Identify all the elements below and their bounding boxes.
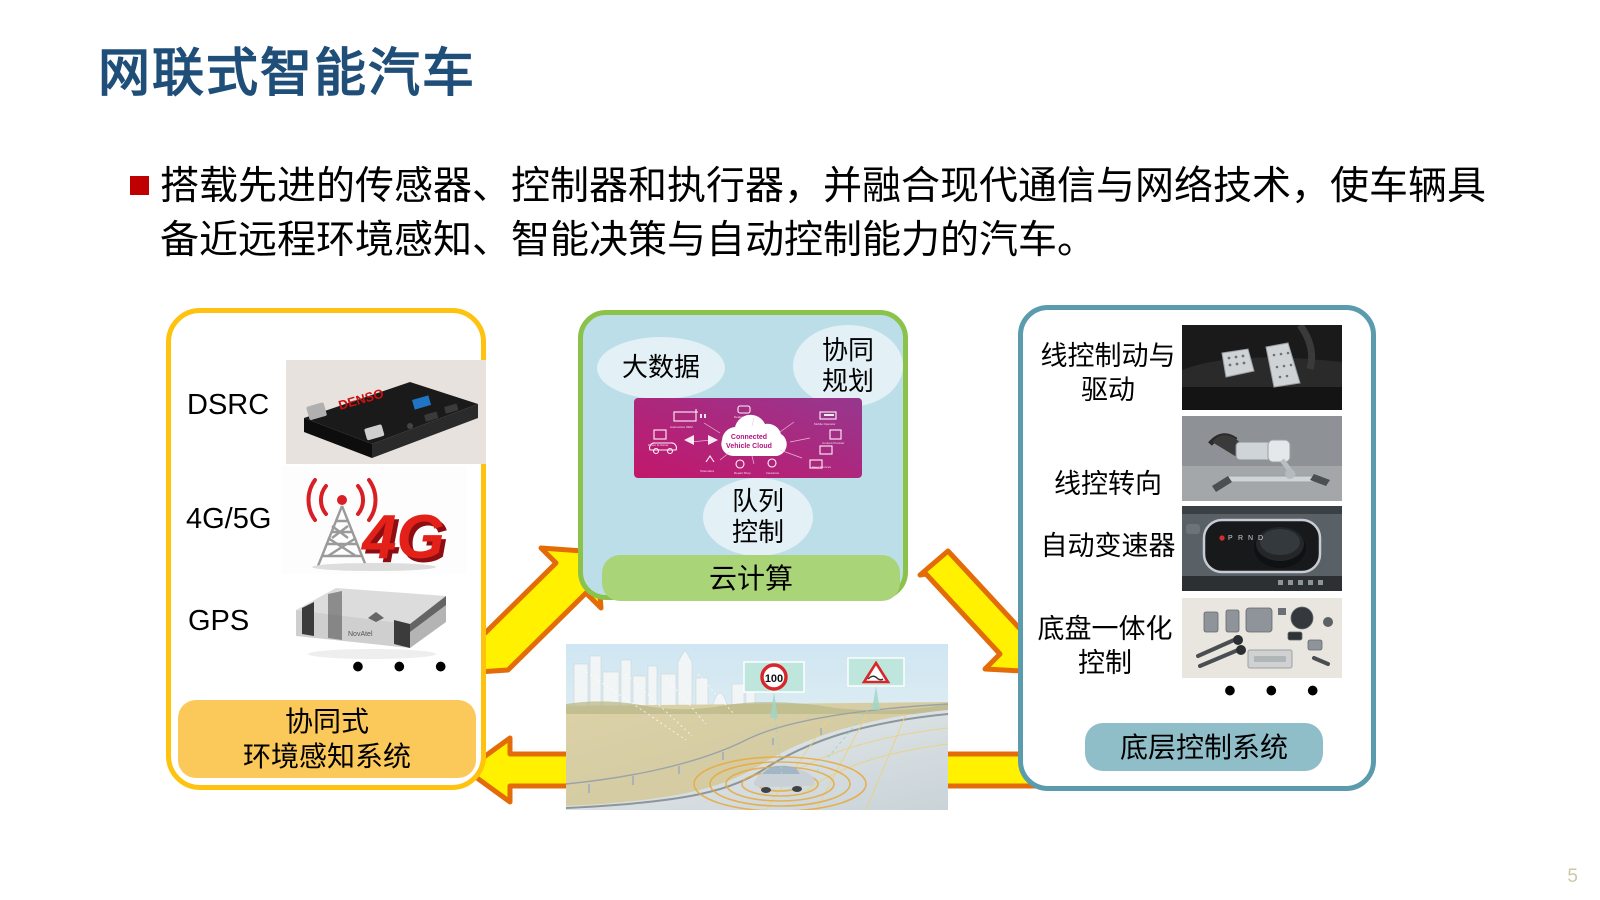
label-line-1: 底盘一体化: [1030, 613, 1180, 647]
cloud-caption-line-2: Vehicle Cloud: [726, 443, 772, 450]
page-title: 网联式智能汽车: [98, 45, 476, 105]
left-row-label-4g5g: 4G/5G: [186, 503, 271, 536]
brake-accelerator-pedals-photo: [1182, 325, 1342, 410]
label-line-1: 线控制动与: [1038, 340, 1178, 374]
svg-text:N: N: [1248, 535, 1253, 542]
label-line-2: 驱动: [1038, 374, 1178, 408]
svg-text:Driver & Owner: Driver & Owner: [648, 443, 669, 447]
svg-text:Dealer: Dealer: [734, 415, 743, 419]
chassis-components-photo: [1182, 598, 1342, 678]
ellipse-label-line-1: 队列: [732, 486, 784, 517]
tag-line-2: 环境感知系统: [243, 739, 411, 774]
label-line-1: 线控转向: [1038, 468, 1178, 502]
left-row-label-gps: GPS: [188, 605, 249, 638]
tag-line-1: 协同式: [285, 704, 369, 739]
label-line-2: 控制: [1030, 647, 1180, 681]
svg-text:Content Provider: Content Provider: [822, 441, 845, 445]
right-panel-ellipsis: • • •: [1224, 672, 1329, 711]
connected-vehicle-road-scene: 100: [566, 644, 948, 810]
bullet-text: 搭载先进的传感器、控制器和执行器，并融合现代通信与网络技术，使车辆具备近远程环境…: [160, 160, 1490, 268]
slide-canvas: 网联式智能汽车 搭载先进的传感器、控制器和执行器，并融合现代通信与网络技术，使车…: [0, 0, 1600, 900]
svg-text:R: R: [1238, 535, 1243, 542]
right-row-label-brake-drive-by-wire: 线控制动与 驱动: [1038, 340, 1178, 408]
svg-text:Mobile Operator: Mobile Operator: [814, 422, 836, 426]
svg-text:Telematics: Telematics: [700, 469, 715, 473]
tag-low-level-control-system[interactable]: 底层控制系统: [1085, 723, 1323, 771]
left-row-label-dsrc: DSRC: [187, 389, 269, 422]
svg-text:D: D: [1258, 535, 1263, 542]
svg-text:Repair Shop: Repair Shop: [734, 471, 751, 475]
dsrc-module-photo: DENSO: [286, 360, 486, 464]
page-number: 5: [1567, 866, 1578, 888]
ellipse-label-line-2: 控制: [732, 517, 784, 548]
svg-text:100: 100: [765, 673, 783, 685]
bullet-square-icon: [130, 176, 149, 195]
ellipse-platoon-control[interactable]: 队列 控制: [703, 478, 813, 556]
svg-text:4G: 4G: [360, 503, 445, 572]
cloud-caption-line-1: Connected: [731, 434, 767, 441]
bullet-paragraph: 搭载先进的传感器、控制器和执行器，并融合现代通信与网络技术，使车辆具备近远程环境…: [130, 160, 1490, 268]
svg-text:Automotive OEM: Automotive OEM: [670, 425, 693, 429]
connected-vehicle-cloud-diagram: Connected Vehicle Cloud: [634, 398, 862, 478]
svg-text:Insurance: Insurance: [766, 471, 780, 475]
steer-by-wire-rack-photo: [1182, 416, 1342, 501]
right-row-label-integrated-chassis-control: 底盘一体化 控制: [1030, 613, 1180, 681]
svg-text:Fleet Services: Fleet Services: [812, 465, 832, 469]
left-panel-ellipsis: • • •: [352, 648, 457, 687]
svg-text:NovAtel: NovAtel: [348, 631, 373, 638]
ellipse-label-line-2: 规划: [822, 366, 874, 397]
right-row-label-automatic-transmission: 自动变速器: [1038, 530, 1178, 564]
tag-cooperative-perception-system[interactable]: 协同式 环境感知系统: [178, 700, 476, 778]
svg-text:P: P: [1228, 535, 1233, 542]
ellipse-big-data[interactable]: 大数据: [597, 337, 725, 399]
ellipse-label-line-1: 协同: [822, 335, 874, 366]
ellipse-cooperative-planning[interactable]: 协同 规划: [793, 325, 903, 407]
automatic-gear-selector-photo: PRND: [1182, 506, 1342, 591]
label-line-1: 自动变速器: [1038, 530, 1178, 564]
ellipse-label: 大数据: [622, 352, 700, 383]
right-row-label-steer-by-wire: 线控转向: [1038, 468, 1178, 502]
tag-cloud-computing[interactable]: 云计算: [602, 555, 900, 601]
cell-tower-4g-photo: 4G 4G: [282, 466, 467, 574]
